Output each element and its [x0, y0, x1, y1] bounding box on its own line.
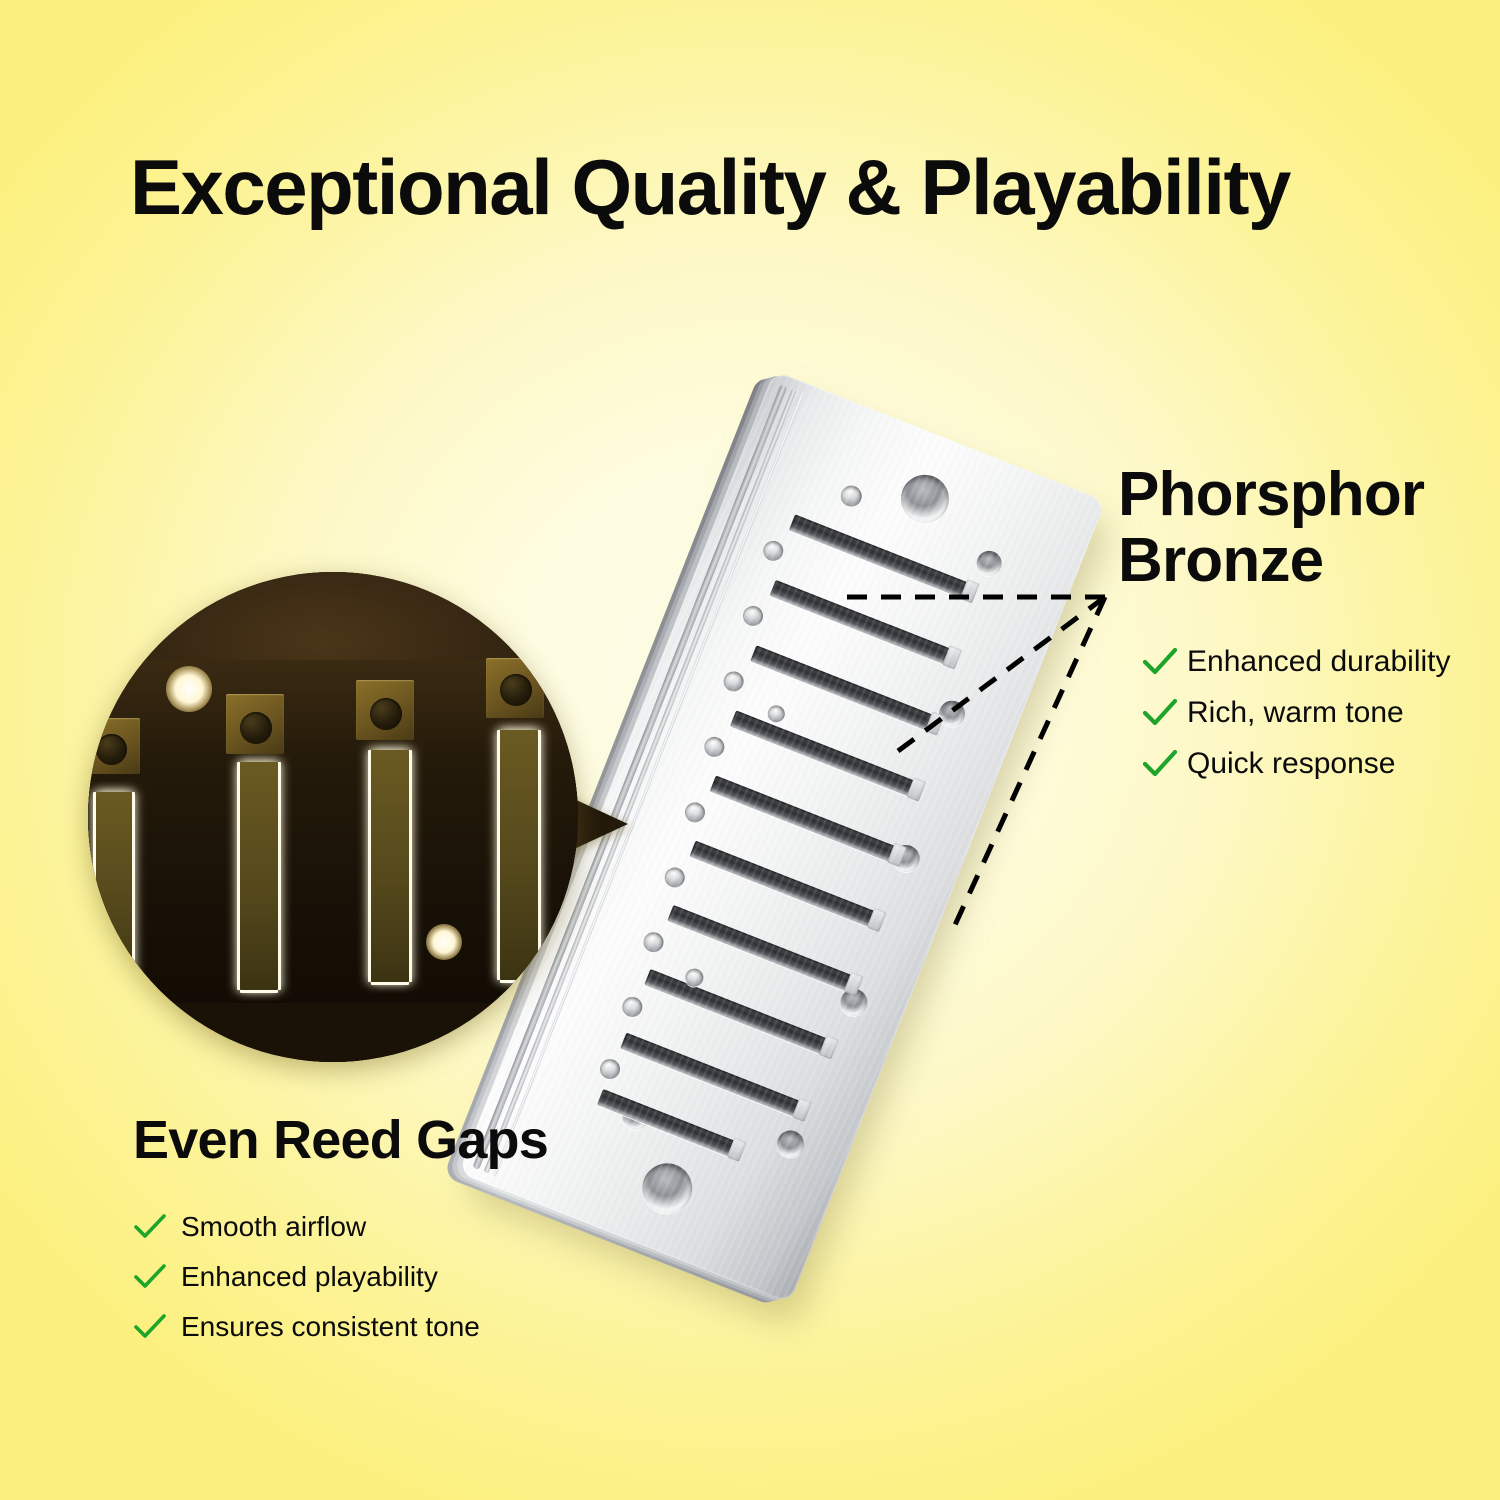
rivet-hole [740, 603, 766, 629]
through-hole [618, 1099, 653, 1134]
magnifier-lens [88, 572, 578, 1062]
through-hole [773, 1126, 808, 1161]
reed-slot [667, 905, 861, 995]
reed-slot [750, 645, 942, 734]
reed-slot [770, 580, 960, 668]
list-item: Rich, warm tone [1142, 687, 1451, 738]
light-highlight [166, 666, 212, 712]
list-item: Quick response [1142, 738, 1451, 789]
rivet [500, 674, 532, 706]
light-highlight [426, 924, 462, 960]
through-hole [836, 985, 871, 1020]
rivet [240, 712, 272, 744]
list-item-label: Quick response [1187, 747, 1395, 781]
bullet-list-bronze: Enhanced durability Rich, warm tone Quic… [1142, 636, 1451, 789]
list-item: Enhanced durability [1142, 636, 1451, 687]
section-title-bronze: Phorsphor Bronze [1118, 462, 1488, 593]
reed-slot [710, 776, 905, 866]
rivet-hole [641, 929, 667, 955]
magnifier-scene [88, 572, 578, 1062]
rivet-hole [597, 1056, 623, 1082]
reed-slot [644, 969, 836, 1058]
through-hole [889, 841, 924, 876]
reed-gap [96, 792, 132, 992]
list-item: Smooth airflow [133, 1202, 480, 1252]
list-item-label: Enhanced playability [181, 1261, 438, 1293]
rivet-hole [683, 966, 706, 989]
reed-gap [500, 730, 538, 980]
bullet-list-reed-gaps: Smooth airflow Enhanced playability Ensu… [133, 1202, 480, 1352]
list-item-label: Ensures consistent tone [181, 1311, 480, 1343]
reed-slot [789, 514, 978, 602]
reed-slot [689, 841, 884, 931]
check-icon [133, 1213, 167, 1241]
reed-slot [730, 710, 924, 800]
list-item: Enhanced playability [133, 1252, 480, 1302]
check-icon [1142, 749, 1178, 779]
screw-hole-top [894, 468, 956, 530]
through-hole [935, 697, 969, 731]
check-icon [133, 1263, 167, 1291]
reed-slot [620, 1033, 810, 1121]
reed-gap [240, 762, 278, 990]
list-item-label: Smooth airflow [181, 1211, 366, 1243]
rivet-hole [838, 483, 865, 510]
rivet-hole [662, 865, 688, 891]
rivet-hole [701, 734, 727, 760]
rivet-hole [765, 703, 787, 725]
reed-gap [371, 750, 409, 982]
rivet-hole [682, 799, 708, 825]
check-icon [133, 1313, 167, 1341]
rivet-hole [760, 538, 786, 564]
check-icon [1142, 647, 1178, 677]
rivet-hole [619, 994, 645, 1020]
list-item-label: Rich, warm tone [1187, 696, 1404, 730]
list-item: Ensures consistent tone [133, 1302, 480, 1352]
rivet [96, 734, 127, 765]
list-item-label: Enhanced durability [1187, 645, 1451, 679]
rivet-hole [721, 668, 747, 694]
screw-hole-bottom [635, 1156, 700, 1221]
check-icon [1142, 698, 1178, 728]
reed-slot [597, 1089, 745, 1161]
through-hole [973, 547, 1005, 579]
magnifier-callout [88, 572, 578, 1062]
page-title: Exceptional Quality & Playability [130, 148, 1290, 226]
section-title-reed-gaps: Even Reed Gaps [133, 1112, 548, 1169]
infographic-canvas: Exceptional Quality & Playability [0, 0, 1500, 1500]
rivet [370, 698, 402, 730]
